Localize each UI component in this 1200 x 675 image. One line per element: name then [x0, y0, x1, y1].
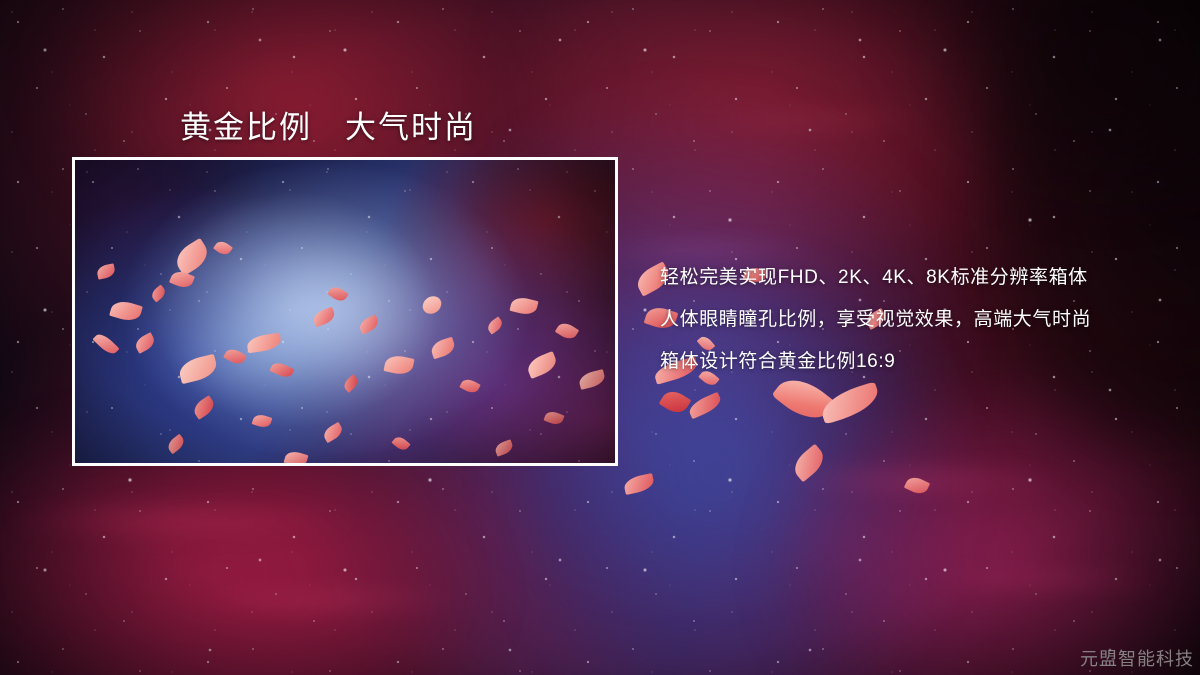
petal — [623, 473, 656, 495]
watermark: 元盟智能科技 — [1080, 645, 1194, 671]
petal — [789, 444, 829, 483]
body-line-1: 轻松完美实现FHD、2K、4K、8K标准分辨率箱体 — [660, 257, 1160, 299]
photo-vignette — [75, 160, 615, 463]
framed-photo — [72, 157, 618, 466]
page-title: 黄金比例 大气时尚 — [180, 102, 477, 147]
photo-nebula-petals — [75, 160, 615, 463]
petal — [904, 474, 930, 497]
petal — [817, 381, 882, 424]
body-text-block: 轻松完美实现FHD、2K、4K、8K标准分辨率箱体 人体眼睛瞳孔比例，享受视觉效… — [660, 257, 1160, 383]
petal — [659, 387, 692, 418]
body-line-2: 人体眼睛瞳孔比例，享受视觉效果，高端大气时尚 — [660, 299, 1160, 341]
slide-canvas: 黄金比例 大气时尚 轻松完美实现FHD、2K、4K、8K标准分辨率箱体 人体眼睛… — [0, 0, 1200, 675]
petal — [686, 392, 723, 420]
body-line-3: 箱体设计符合黄金比例16:9 — [660, 341, 1160, 383]
